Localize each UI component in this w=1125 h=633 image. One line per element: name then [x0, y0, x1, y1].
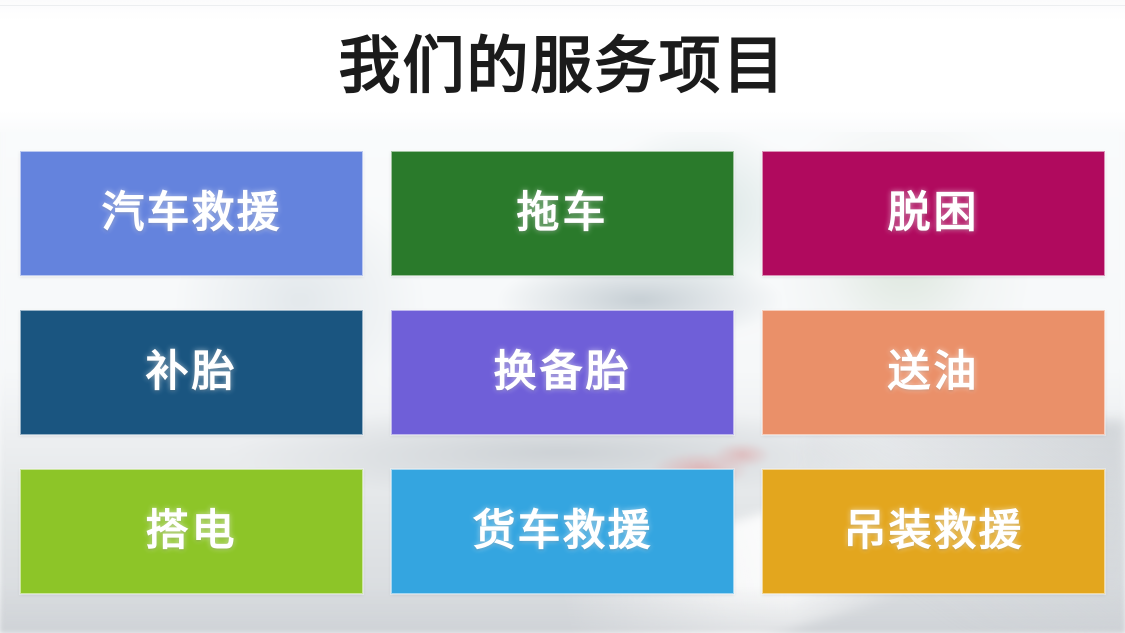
service-tile-spare-tire-change[interactable]: 换备胎	[391, 310, 734, 435]
service-tile-fuel-delivery[interactable]: 送油	[762, 310, 1105, 435]
service-tile-label: 拖车	[517, 192, 609, 235]
service-tile-label: 脱困	[888, 192, 980, 235]
header-divider	[0, 5, 1125, 6]
service-tile-label: 搭电	[146, 510, 238, 553]
service-poster: 我们的服务项目 汽车救援拖车脱困补胎换备胎送油搭电货车救援吊装救援	[0, 0, 1125, 633]
service-tile-truck-rescue[interactable]: 货车救援	[391, 469, 734, 594]
service-tile-jump-start[interactable]: 搭电	[20, 469, 363, 594]
service-tile-car-rescue[interactable]: 汽车救援	[20, 151, 363, 276]
service-tile-label: 换备胎	[494, 351, 632, 394]
service-tile-label: 送油	[888, 351, 980, 394]
service-tile-tow-truck[interactable]: 拖车	[391, 151, 734, 276]
service-tile-label: 货车救援	[473, 510, 653, 553]
service-tile-grid: 汽车救援拖车脱困补胎换备胎送油搭电货车救援吊装救援	[20, 151, 1105, 603]
service-tile-label: 吊装救援	[844, 510, 1024, 553]
service-tile-label: 汽车救援	[102, 192, 282, 235]
service-tile-tire-repair[interactable]: 补胎	[20, 310, 363, 435]
service-tile-hoisting-rescue[interactable]: 吊装救援	[762, 469, 1105, 594]
service-tile-label: 补胎	[146, 351, 238, 394]
page-title: 我们的服务项目	[0, 20, 1125, 112]
service-tile-extrication[interactable]: 脱困	[762, 151, 1105, 276]
